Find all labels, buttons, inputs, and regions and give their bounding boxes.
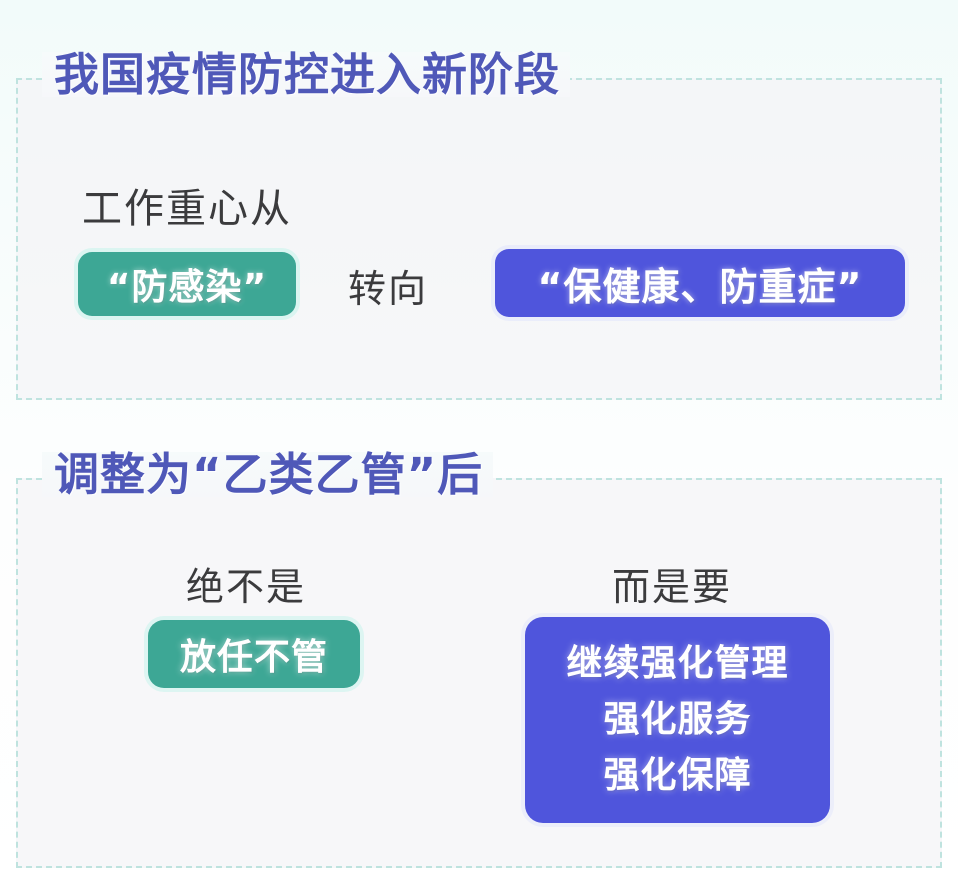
definitely-not-label: 绝不是 [186, 556, 306, 611]
pill-protect-health-prevent-severe: “保健康、防重症” [495, 249, 905, 317]
pill-prevent-infection: “防感染” [78, 252, 296, 316]
strengthen-line-1: 继续强化管理 [566, 638, 788, 690]
card-strengthen-measures: 继续强化管理 强化服务 强化保障 [525, 617, 830, 823]
work-focus-label: 工作重心从 [82, 176, 292, 234]
transition-to-label: 转向 [348, 258, 428, 313]
section-class-b-management-heading: 调整为“乙类乙管”后 [42, 452, 493, 497]
but-rather-label: 而是要 [612, 556, 732, 611]
strengthen-line-2: 强化服务 [603, 694, 751, 746]
strengthen-line-3: 强化保障 [603, 750, 751, 802]
infographic-canvas: 我国疫情防控进入新阶段 工作重心从 “防感染” 转向 “保健康、防重症” 调整为… [0, 0, 958, 888]
section-new-stage-heading: 我国疫情防控进入新阶段 [42, 52, 570, 97]
section-new-stage-panel [16, 78, 942, 400]
card-laissez-faire: 放任不管 [148, 620, 360, 688]
